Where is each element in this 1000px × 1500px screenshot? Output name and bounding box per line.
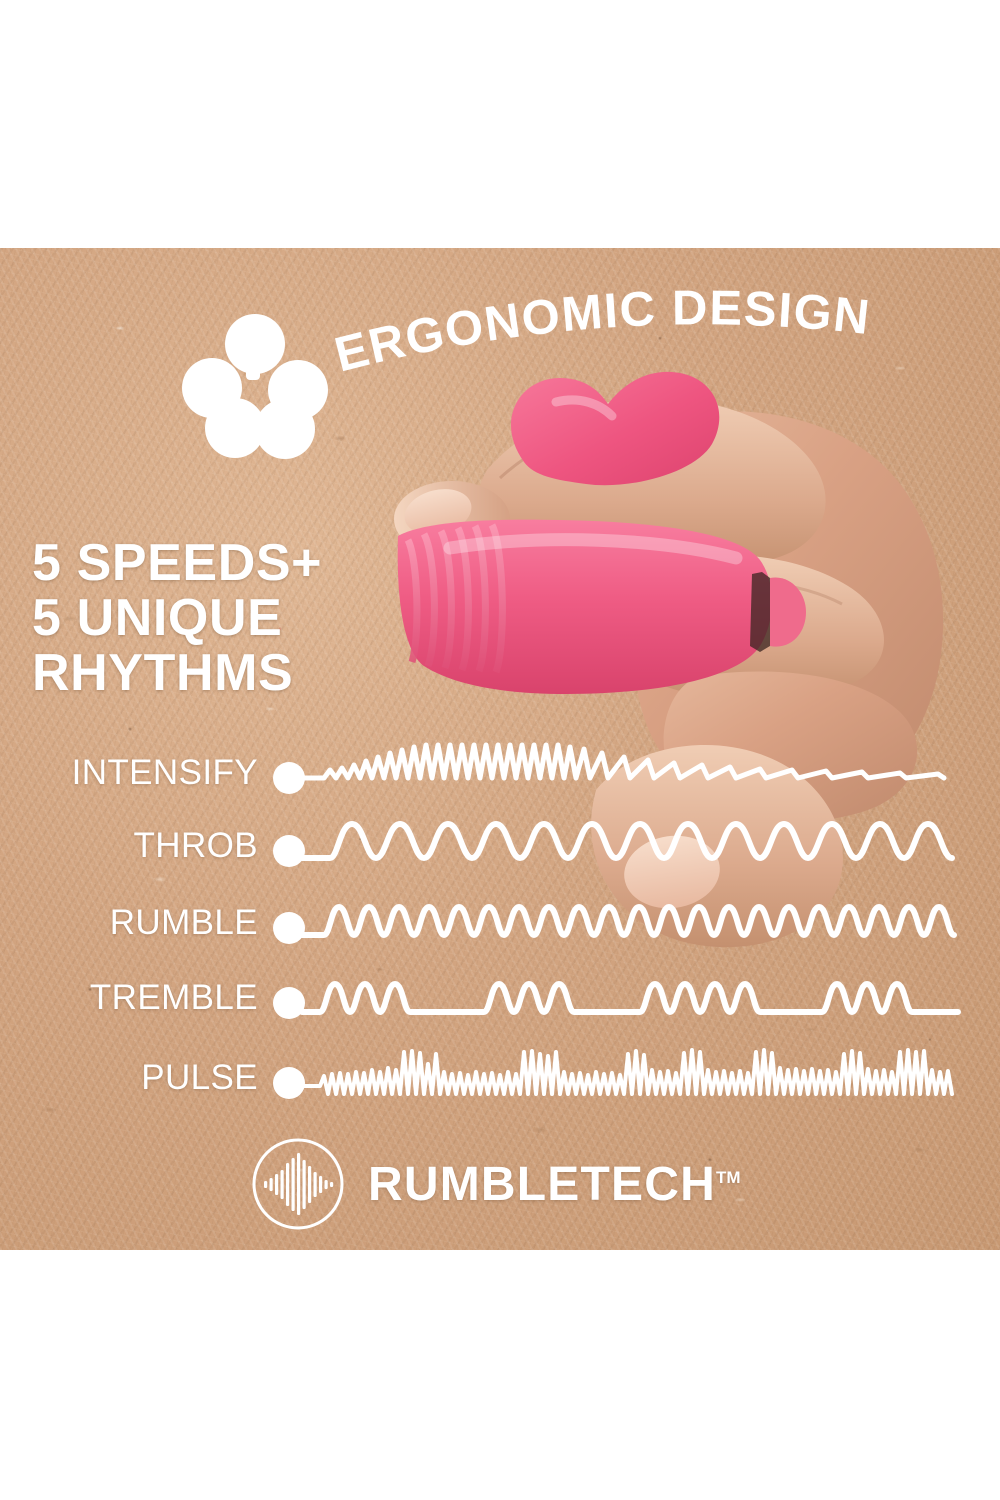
rhythm-label-holder: INTENSIFY — [0, 745, 258, 801]
headline-line-2: 5 UNIQUE — [32, 591, 322, 646]
rhythm-label-holder: RUMBLE — [0, 895, 258, 951]
waveform-throb — [302, 824, 952, 858]
trademark-symbol: TM — [716, 1168, 741, 1187]
headline-line-1: 5 SPEEDS+ — [32, 536, 322, 591]
waveform-pulse — [302, 1050, 952, 1094]
headline-line-3: RHYTHMS — [32, 646, 322, 701]
waveform-tremble — [302, 984, 958, 1012]
rhythm-wave-throb — [272, 818, 972, 874]
headline-block: 5 SPEEDS+ 5 UNIQUE RHYTHMS — [32, 536, 322, 701]
rhythm-row-tremble: TREMBLE — [0, 970, 1000, 1026]
rhythm-marker-dot — [273, 1067, 305, 1099]
rhythm-label-tremble: TREMBLE — [90, 978, 258, 1018]
rhythm-label-rumble: RUMBLE — [110, 903, 258, 943]
sound-wave-circle-icon — [250, 1136, 346, 1232]
rhythm-label-intensify: INTENSIFY — [72, 753, 258, 793]
rhythm-label-throb: THROB — [134, 826, 259, 866]
waveform-rumble — [302, 907, 954, 935]
rhythm-row-intensify: INTENSIFY — [0, 745, 1000, 801]
rhythm-row-pulse: PULSE — [0, 1050, 1000, 1106]
footer-logo: RUMBLETECHTM — [250, 1136, 741, 1232]
footer-brand-wordmark: RUMBLETECHTM — [368, 1157, 741, 1212]
rhythm-wave-intensify — [272, 745, 972, 801]
rhythm-row-throb: THROB — [0, 818, 1000, 874]
rhythm-row-rumble: RUMBLE — [0, 895, 1000, 951]
rhythm-label-holder: THROB — [0, 818, 258, 874]
waveform-intensify — [302, 745, 944, 778]
rhythm-wave-pulse — [272, 1050, 972, 1106]
rhythm-marker-dot — [273, 912, 305, 944]
rhythm-marker-dot — [273, 835, 305, 867]
rhythm-wave-rumble — [272, 895, 972, 951]
rhythm-label-pulse: PULSE — [141, 1058, 258, 1098]
rhythm-label-holder: TREMBLE — [0, 970, 258, 1026]
rhythm-label-holder: PULSE — [0, 1050, 258, 1106]
product-feature-graphic: ERGONOMIC DESIGN 5 SPEEDS+ 5 UNIQUE RHYT… — [0, 0, 1000, 1500]
brand-name: RUMBLETECH — [368, 1158, 716, 1211]
rhythm-wave-tremble — [272, 970, 972, 1026]
